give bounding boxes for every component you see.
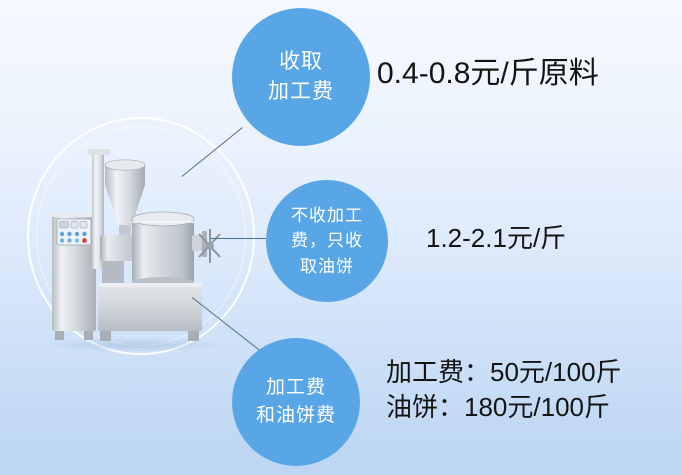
bubble-line: 加工费: [266, 374, 326, 402]
price-line: 加工费：50元/100斤: [386, 355, 622, 390]
option-bubble-fee-and-cake[interactable]: 加工费 和油饼费: [232, 338, 360, 466]
connector-line-middle: [211, 238, 268, 239]
bubble-line: 和油饼费: [256, 402, 336, 430]
bubble-line: 加工费: [268, 77, 334, 107]
oil-press-machine-icon: [36, 135, 226, 355]
option-bubble-charge-processing-fee[interactable]: 收取 加工费: [232, 8, 370, 146]
option-bubble-no-fee-only-cake[interactable]: 不收加工 费，只收 取油饼: [266, 180, 388, 302]
price-line: 油饼：180元/100斤: [386, 390, 622, 425]
price-label-no-fee-only-cake: 1.2-2.1元/斤: [426, 218, 566, 255]
price-label-fee-and-cake: 加工费：50元/100斤 油饼：180元/100斤: [386, 355, 622, 425]
price-label-charge-processing-fee: 0.4-0.8元/斤原料: [377, 48, 599, 92]
bubble-line: 取油饼: [300, 254, 354, 280]
bubble-line: 收取: [279, 47, 323, 77]
poster-canvas: 收取 加工费 0.4-0.8元/斤原料 不收加工 费，只收 取油饼 1.2-2.…: [0, 0, 682, 475]
bubble-line: 费，只收: [291, 228, 363, 254]
bubble-line: 不收加工: [291, 203, 363, 229]
